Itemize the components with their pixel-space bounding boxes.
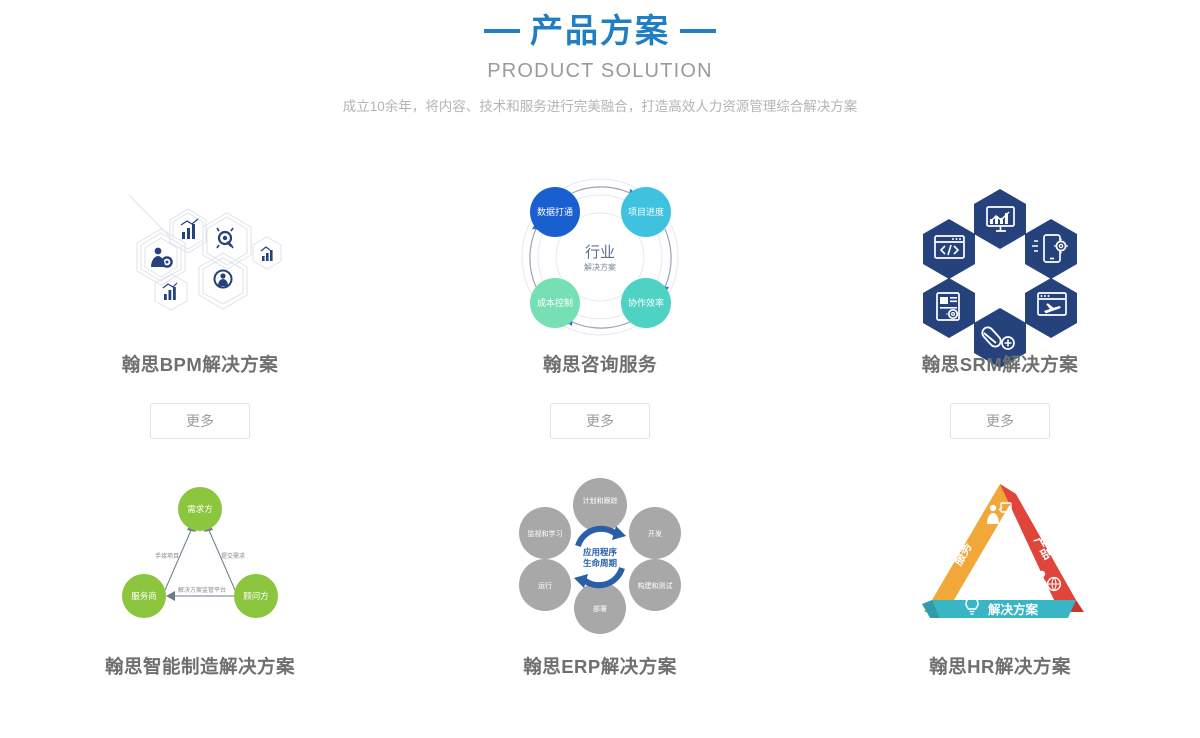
triangle-label-solution: 解决方案 (988, 602, 1039, 617)
edge-label-3: 解决方案监管平台 (178, 586, 226, 594)
lifecycle-circles-icon: 计划和跟踪 开发 构建和测试 部署 运行 监视和学习 (505, 470, 695, 635)
solution-grid: 翰思BPM解决方案 更多 (0, 160, 1200, 720)
solution-card-erp[interactable]: 计划和跟踪 开发 构建和测试 部署 运行 监视和学习 (400, 460, 800, 720)
erp-center-line2: 生命周期 (583, 558, 618, 568)
node-label-efficiency: 协作效率 (627, 297, 663, 308)
card-title: 翰思HR解决方案 (929, 653, 1071, 679)
solution-card-smart-manufacturing[interactable]: 需求方 服务商 顾问方 手接项目 提交需求 解决方案监管平台 翰思智能制造解决方… (0, 460, 400, 720)
node-label-plan: 计划和跟踪 (583, 496, 618, 505)
node-label-develop: 开发 (648, 529, 662, 538)
page-subtitle: PRODUCT SOLUTION (0, 60, 1200, 83)
node-label-progress: 项目进度 (627, 206, 663, 217)
more-button-srm[interactable]: 更多 (950, 403, 1050, 439)
title-rule-right (680, 29, 716, 33)
green-triangle-network-icon: 需求方 服务商 顾问方 手接项目 提交需求 解决方案监管平台 (105, 470, 295, 635)
hexagon-ring-icon (905, 170, 1095, 345)
solution-card-srm[interactable]: 翰思SRM解决方案 更多 (800, 160, 1200, 460)
node-label-build: 构建和测试 (638, 581, 673, 590)
title-rule-left (484, 29, 520, 33)
triangle-side-service (932, 484, 1016, 600)
page-description: 成立10余年，将内容、技术和服务进行完美融合，打造高效人力资源管理综合解决方案 (0, 95, 1200, 115)
card-title: 翰思SRM解决方案 (922, 351, 1079, 377)
node-label-data: 数据打通 (536, 206, 572, 217)
card-title: 翰思智能制造解决方案 (105, 653, 295, 679)
solution-card-consulting[interactable]: 数据打通 项目进度 成本控制 协作效率 行业 解决方案 翰思咨询服务 更多 (400, 160, 800, 460)
center-main-label: 行业 (584, 244, 614, 261)
more-button-bpm[interactable]: 更多 (150, 403, 250, 439)
circular-solution-diagram-icon: 数据打通 项目进度 成本控制 协作效率 行业 解决方案 (505, 170, 695, 345)
edge-label-2: 提交需求 (221, 552, 245, 560)
solution-card-bpm[interactable]: 翰思BPM解决方案 更多 (0, 160, 400, 460)
card-title: 翰思咨询服务 (543, 351, 657, 377)
node-label-deploy: 部署 (593, 604, 607, 613)
page-header: 产品方案 PRODUCT SOLUTION 成立10余年，将内容、技术和服务进行… (0, 0, 1200, 115)
node-label-demand: 需求方 (187, 504, 213, 514)
erp-center-line1: 应用程序 (583, 547, 618, 557)
solution-card-hr[interactable]: 服务 产品 解决方案 (800, 460, 1200, 720)
card-title: 翰思BPM解决方案 (122, 351, 279, 377)
node-label-run: 运行 (538, 581, 552, 590)
node-label-monitor: 监视和学习 (528, 529, 563, 538)
hexagon-cluster-icon (105, 170, 295, 345)
more-button-consulting[interactable]: 更多 (550, 403, 650, 439)
edge-label-1: 手接项目 (155, 552, 179, 560)
node-label-consultant: 顾问方 (243, 591, 269, 601)
page-title: 产品方案 (530, 14, 670, 47)
node-label-provider: 服务商 (131, 591, 157, 601)
card-title: 翰思ERP解决方案 (523, 653, 677, 679)
node-circle-plan (573, 478, 627, 532)
product-solution-page: 产品方案 PRODUCT SOLUTION 成立10余年，将内容、技术和服务进行… (0, 0, 1200, 738)
node-label-cost: 成本控制 (536, 297, 572, 308)
center-sub-label: 解决方案 (584, 262, 616, 272)
title-row: 产品方案 (0, 14, 1200, 47)
color-triangle-icon: 服务 产品 解决方案 (905, 470, 1095, 635)
